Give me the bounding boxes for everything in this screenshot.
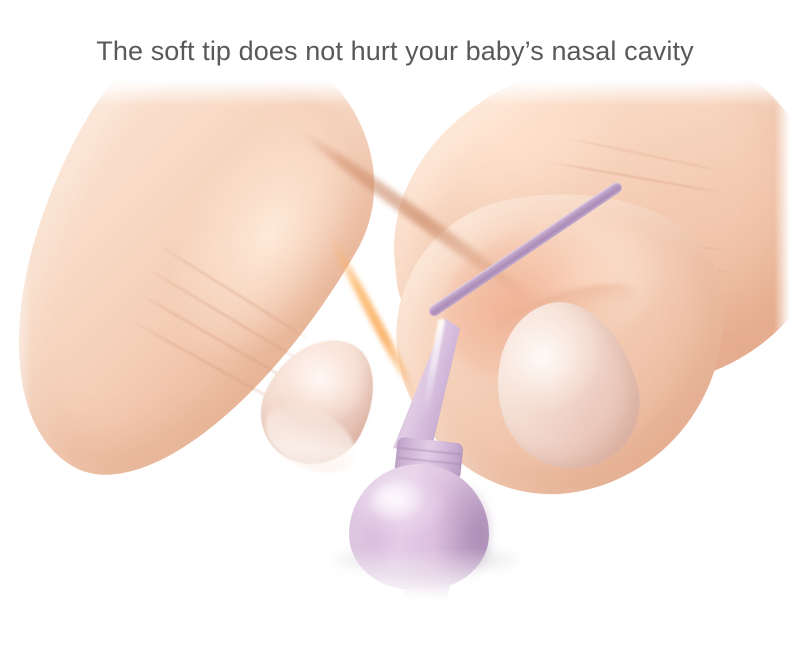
nasal-aspirator-tip <box>0 80 790 600</box>
soft-nozzle <box>389 313 461 455</box>
product-photo <box>0 80 790 600</box>
page-title: The soft tip does not hurt your baby’s n… <box>0 34 790 68</box>
bulb-shading <box>437 484 491 580</box>
suction-tube <box>427 180 624 318</box>
product-feature-page: The soft tip does not hurt your baby’s n… <box>0 0 790 653</box>
